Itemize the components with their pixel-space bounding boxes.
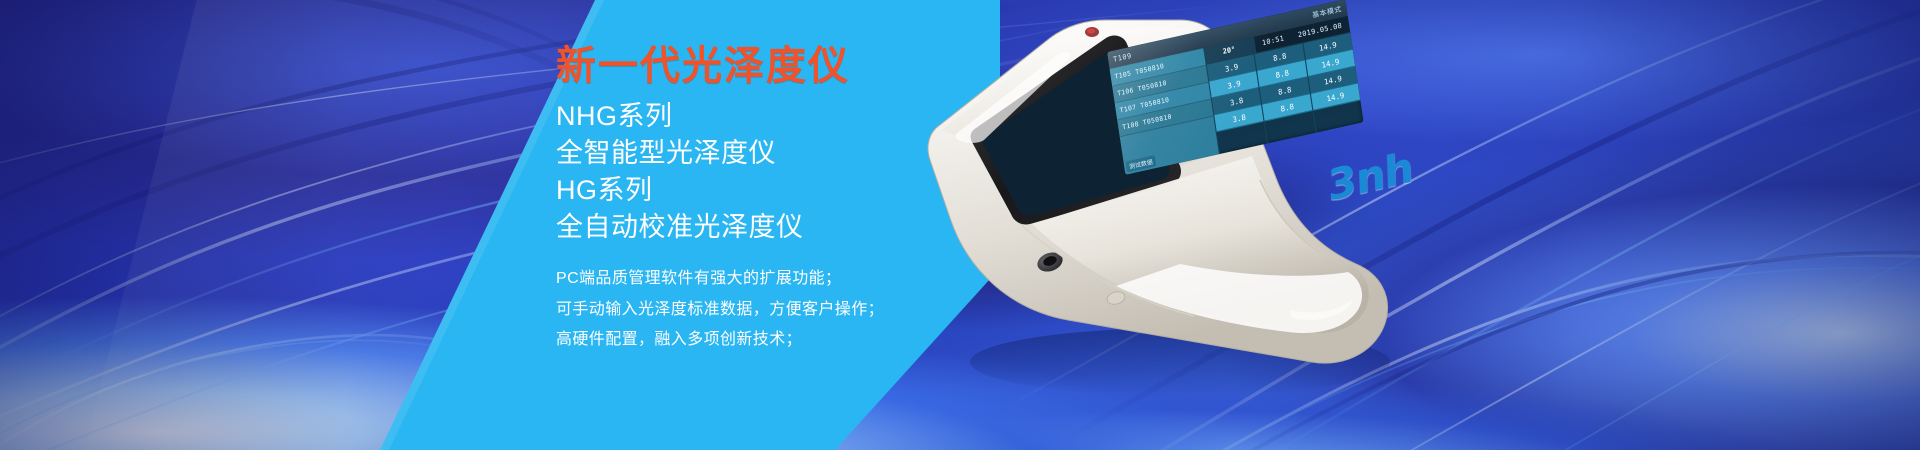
screen-sample-title: T109	[1113, 51, 1133, 63]
product-banner: 新一代光泽度仪 NHG系列 全智能型光泽度仪 HG系列 全自动校准光泽度仪 PC…	[0, 0, 1920, 450]
screen-time: 10:51	[1261, 34, 1284, 47]
screen-sample-list[interactable]: T105 T050810 T106 T050810 T107 T050810 T…	[1110, 48, 1220, 175]
